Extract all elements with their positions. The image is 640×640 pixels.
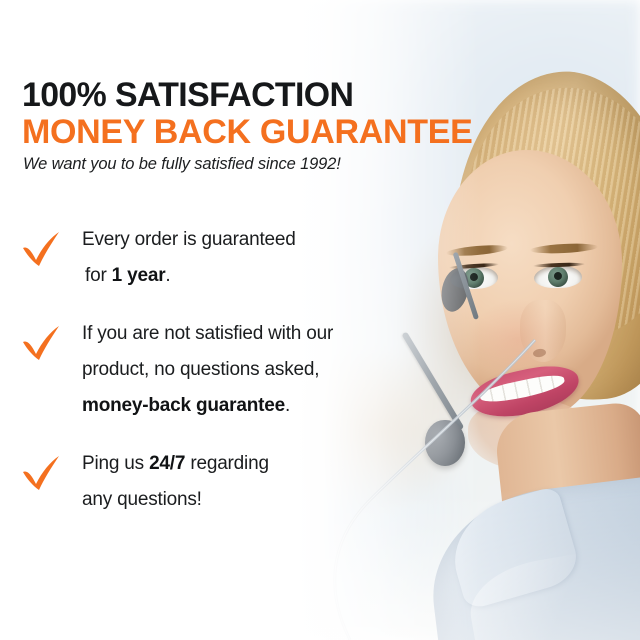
- text-column: 100% SATISFACTION MONEY BACK GUARANTEE W…: [0, 0, 470, 640]
- iris-right: [548, 267, 569, 288]
- list-item: Ping us 24/7 regarding any questions!: [0, 446, 470, 518]
- bullet-1-line-2-prefix: for: [85, 265, 112, 286]
- orange-checkmark-icon: [20, 228, 62, 268]
- eyebrow-right: [530, 242, 598, 255]
- headline-satisfaction: 100% SATISFACTION: [22, 76, 353, 115]
- list-item: If you are not satisfied with our produc…: [0, 316, 470, 424]
- hair-strands: [448, 77, 640, 348]
- list-item-text: Ping us 24/7 regarding any questions!: [82, 446, 470, 518]
- bullet-3-line-1-bold: 24/7: [149, 453, 185, 474]
- eye-right: [534, 265, 583, 289]
- money-back-guarantee-banner: 100% SATISFACTION MONEY BACK GUARANTEE W…: [0, 0, 640, 640]
- bullet-2-line-3-bold: money-back guarantee: [82, 395, 285, 416]
- nose: [520, 300, 566, 362]
- nostril: [533, 348, 547, 358]
- bullet-1-line-2-suffix: .: [165, 265, 170, 286]
- bullet-3-line-2: any questions!: [82, 482, 470, 518]
- guarantee-bullet-list: Every order is guaranteed for 1 year. If…: [0, 222, 470, 540]
- bullet-2-line-3: money-back guarantee.: [82, 388, 470, 424]
- bullet-1-line-1: Every order is guaranteed: [82, 222, 470, 258]
- orange-checkmark-icon: [20, 322, 62, 362]
- bullet-3-line-1: Ping us 24/7 regarding: [82, 446, 470, 482]
- cheek: [470, 300, 566, 380]
- eyelash-right: [533, 262, 585, 268]
- lips: [467, 359, 584, 425]
- bullet-1-line-2-bold: 1 year: [112, 265, 166, 286]
- headline-money-back-guarantee: MONEY BACK GUARANTEE: [22, 113, 473, 152]
- list-item-text: Every order is guaranteed for 1 year.: [82, 222, 470, 294]
- bullet-3-line-1-suffix: regarding: [185, 453, 269, 474]
- teeth: [478, 372, 566, 407]
- list-item: Every order is guaranteed for 1 year.: [0, 222, 470, 294]
- bullet-3-line-1-prefix: Ping us: [82, 453, 149, 474]
- bullet-2-line-3-suffix: .: [285, 395, 290, 416]
- subheadline: We want you to be fully satisfied since …: [23, 155, 341, 174]
- orange-checkmark-icon: [20, 452, 62, 492]
- list-item-text: If you are not satisfied with our produc…: [82, 316, 470, 424]
- bullet-2-line-2: product, no questions asked,: [82, 352, 470, 388]
- chin: [468, 400, 588, 470]
- neck: [493, 401, 640, 556]
- shirt-fold: [463, 548, 626, 640]
- bullet-1-line-2: for 1 year.: [82, 258, 470, 294]
- bullet-2-line-1: If you are not satisfied with our: [82, 316, 470, 352]
